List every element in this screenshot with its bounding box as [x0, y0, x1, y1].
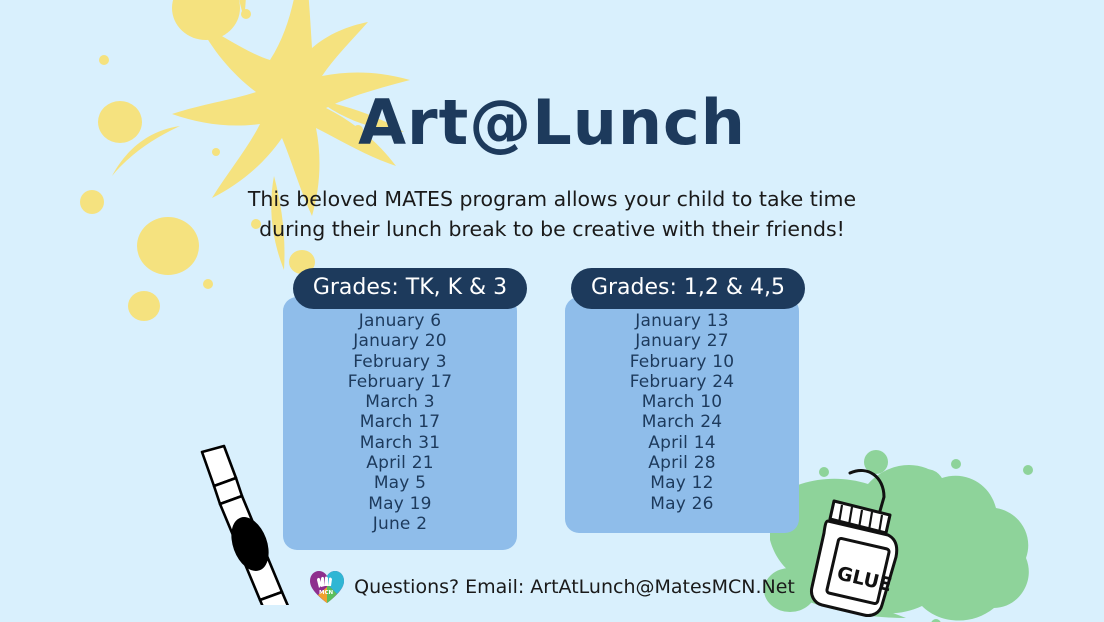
date-item: April 28 — [565, 453, 799, 473]
date-item: February 10 — [565, 352, 799, 372]
date-item: May 5 — [283, 473, 517, 493]
card-header-left: Grades: TK, K & 3 — [293, 268, 527, 309]
date-item: March 17 — [283, 412, 517, 432]
date-item: March 24 — [565, 412, 799, 432]
date-item: March 10 — [565, 392, 799, 412]
date-item: May 19 — [283, 494, 517, 514]
subtitle-line-2: during their lunch break to be creative … — [200, 214, 904, 244]
date-item: February 3 — [283, 352, 517, 372]
date-list-right: January 13January 27February 10February … — [565, 297, 799, 533]
date-item: April 14 — [565, 433, 799, 453]
footer: MCN Questions? Email: ArtAtLunch@MatesMC… — [0, 570, 1104, 604]
subtitle-line-1: This beloved MATES program allows your c… — [200, 184, 904, 214]
mcn-logo-label: MCN — [319, 590, 334, 596]
footer-contact-text: Questions? Email: ArtAtLunch@MatesMCN.Ne… — [354, 576, 795, 598]
date-item: January 13 — [565, 311, 799, 331]
date-item: June 2 — [283, 514, 517, 534]
date-item: May 12 — [565, 473, 799, 493]
date-list-left: January 6January 20February 3February 17… — [283, 297, 517, 550]
date-item: January 27 — [565, 331, 799, 351]
date-item: March 31 — [283, 433, 517, 453]
poster-canvas: GLUE Art@Lunch This beloved MATES progra… — [0, 0, 1104, 622]
mcn-heart-logo-icon: MCN — [309, 570, 345, 604]
date-item: May 26 — [565, 494, 799, 514]
date-item: January 6 — [283, 311, 517, 331]
date-item: February 24 — [565, 372, 799, 392]
date-item: February 17 — [283, 372, 517, 392]
page-title: Art@Lunch — [0, 86, 1104, 159]
date-item: March 3 — [283, 392, 517, 412]
date-item: January 20 — [283, 331, 517, 351]
card-header-right: Grades: 1,2 & 4,5 — [571, 268, 805, 309]
date-item: April 21 — [283, 453, 517, 473]
schedule-card-grades-tk-k-3: Grades: TK, K & 3 January 6January 20Feb… — [283, 268, 517, 550]
page-subtitle: This beloved MATES program allows your c… — [200, 184, 904, 244]
schedule-card-grades-1-2-4-5: Grades: 1,2 & 4,5 January 13January 27Fe… — [565, 268, 799, 533]
